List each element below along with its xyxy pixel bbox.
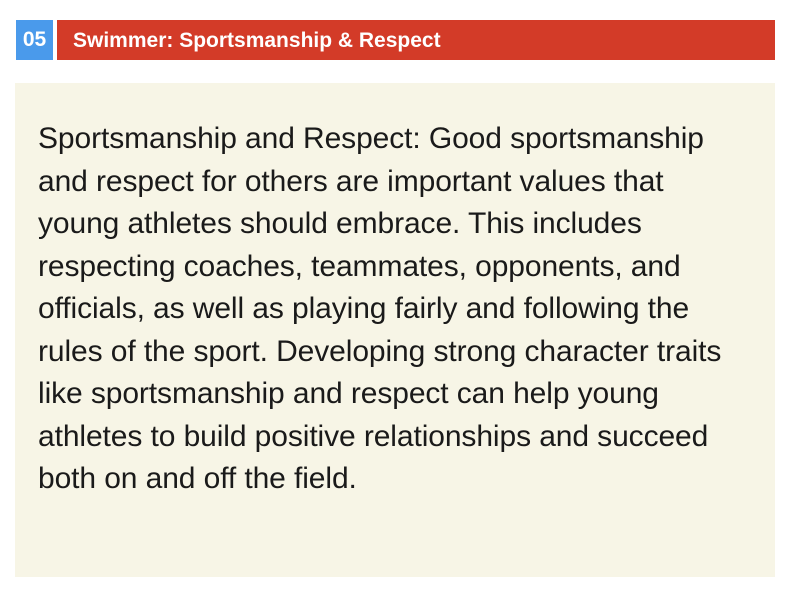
slide-content-panel: Sportsmanship and Respect: Good sportsma… xyxy=(15,83,775,577)
slide-root: 05 Swimmer: Sportsmanship & Respect Spor… xyxy=(0,0,790,592)
slide-number-badge: 05 xyxy=(16,20,53,60)
header-title-bar: Swimmer: Sportsmanship & Respect xyxy=(57,20,775,60)
slide-header: 05 Swimmer: Sportsmanship & Respect xyxy=(16,20,775,60)
slide-title: Swimmer: Sportsmanship & Respect xyxy=(73,30,441,51)
slide-body-text: Sportsmanship and Respect: Good sportsma… xyxy=(38,118,750,501)
